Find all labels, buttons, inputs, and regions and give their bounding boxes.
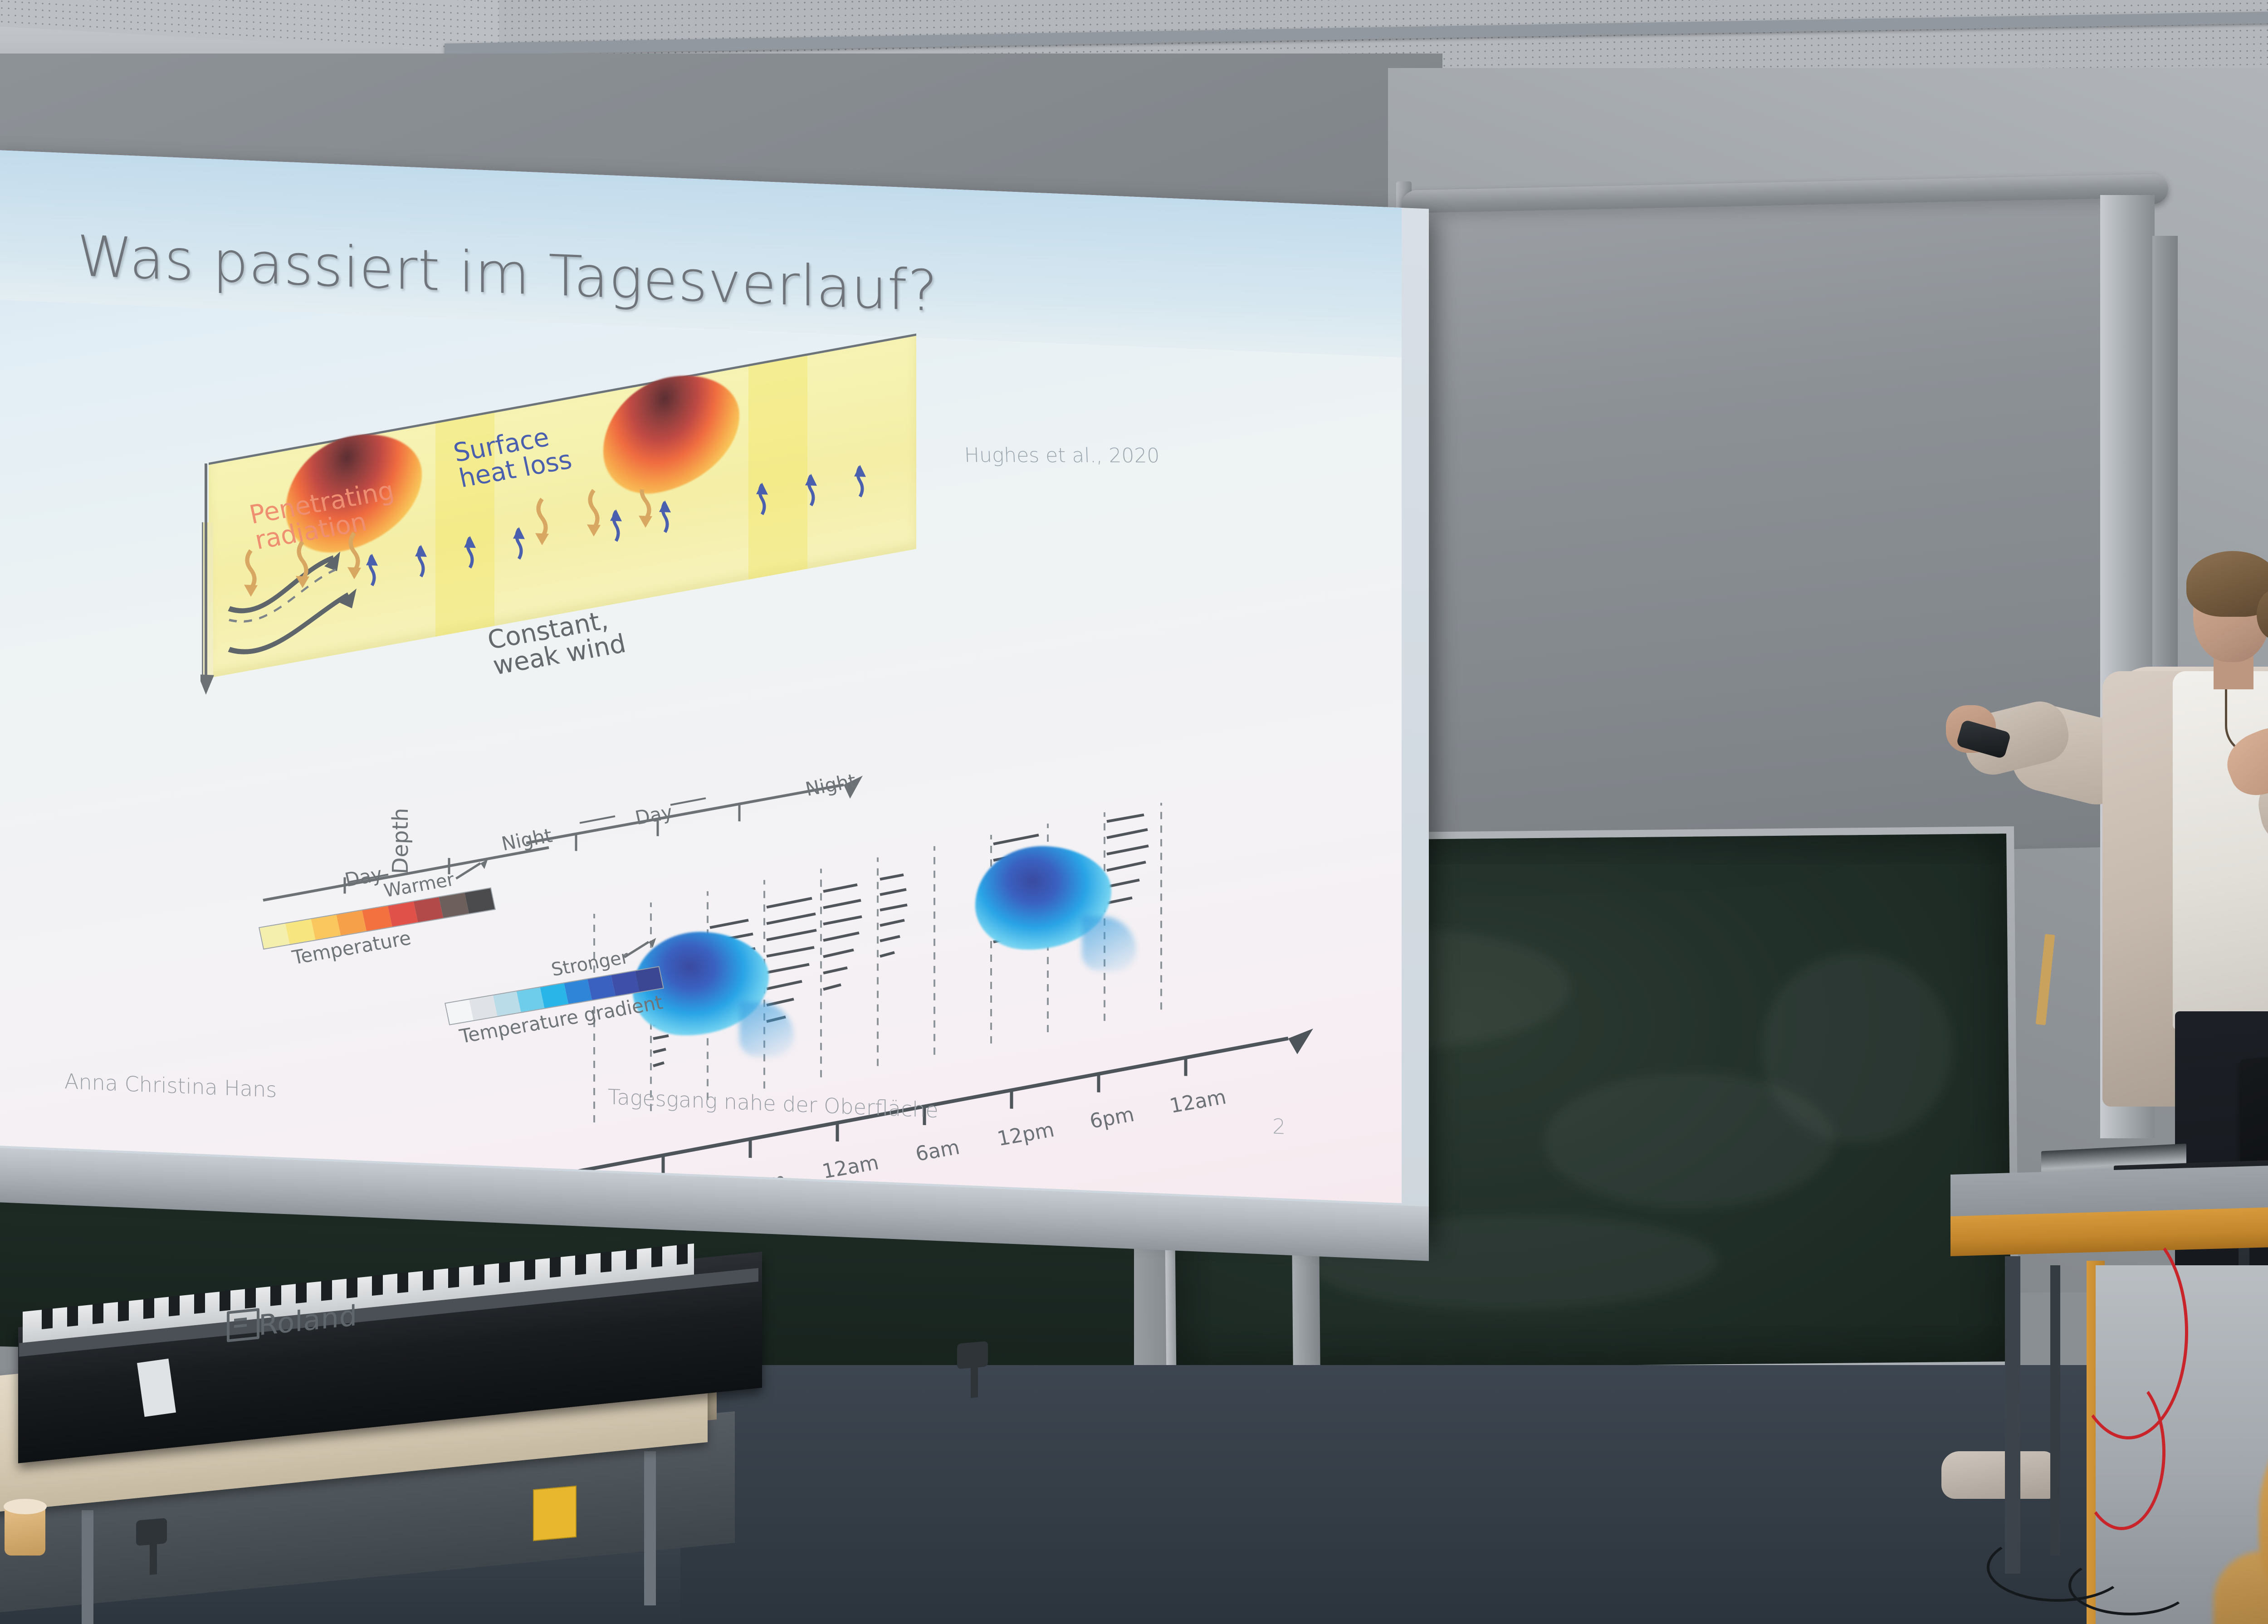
depth-axis — [200, 463, 228, 700]
mug-rim — [4, 1499, 47, 1514]
presenter-hair — [2186, 551, 2268, 617]
warning-sticker — [533, 1486, 577, 1541]
lectern-leg-secondary — [2050, 1265, 2060, 1556]
table-leg-right — [644, 1451, 656, 1605]
colorbar-temperature-gradient: Temperature gradient Stronger — [445, 966, 664, 1025]
ethernet-cable-lower — [2077, 1374, 2165, 1530]
table-clamp-left-stem — [150, 1541, 157, 1575]
presenter-shoe-left — [1941, 1451, 2055, 1499]
table-clamp-right-stem — [971, 1365, 978, 1398]
slide-page-number: 2 — [1272, 1114, 1286, 1139]
table-leg-left — [82, 1510, 93, 1624]
floor-cable-2 — [2068, 1556, 2192, 1615]
projection-screen: Was passiert im Tagesverlauf? Hughes et … — [0, 150, 1429, 1239]
lower-time-axis — [558, 958, 1356, 1203]
slide-citation: Hughes et al., 2020 — [964, 444, 1160, 467]
lectern-leg — [2005, 1256, 2020, 1574]
slide-footer-author: Anna Christina Hans — [64, 1069, 277, 1102]
roland-logo-mark-icon — [227, 1308, 259, 1342]
lecture-hall-photo: Was passiert im Tagesverlauf? Hughes et … — [0, 0, 2268, 1624]
slide: Was passiert im Tagesverlauf? Hughes et … — [0, 150, 1402, 1203]
